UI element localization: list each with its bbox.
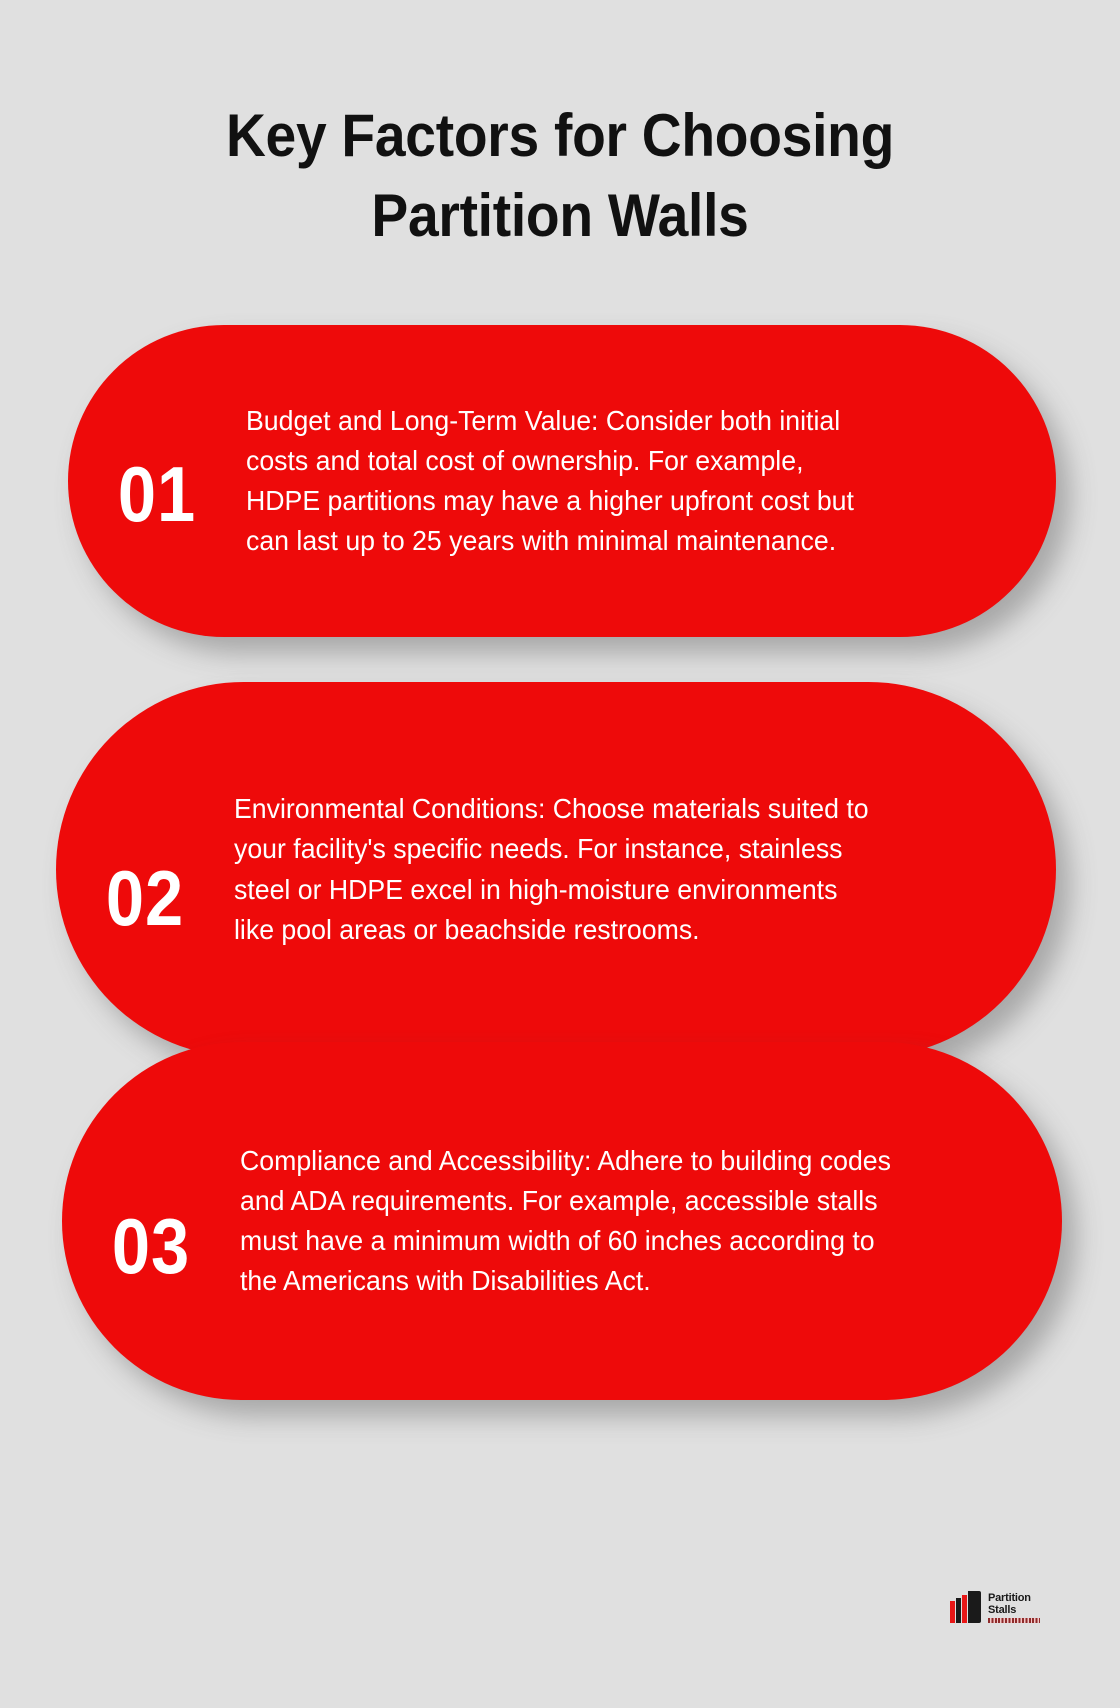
logo-name-line-1: Partition [988,1593,1042,1604]
factor-text-2: Environmental Conditions: Choose materia… [234,789,899,950]
logo-wordmark: Partition Stalls [988,1592,1042,1623]
factor-card-2: 02 Environmental Conditions: Choose mate… [56,682,1056,1057]
logo-bar-dark-1 [956,1598,961,1623]
partition-bars-icon [950,1591,983,1623]
page-title: Key Factors for Choosing Partition Walls [128,96,993,256]
logo-bar-red-2 [962,1595,967,1623]
factor-number-2: 02 [67,803,224,937]
logo-tagline [988,1618,1040,1623]
factor-text-3: Compliance and Accessibility: Adhere to … [240,1141,944,1302]
factor-card-3: 03 Compliance and Accessibility: Adhere … [62,1042,1062,1400]
title-block: Key Factors for Choosing Partition Walls [90,96,1030,256]
logo-bar-dark-2 [968,1591,981,1623]
logo-bar-red-1 [950,1601,955,1623]
infographic-poster: Key Factors for Choosing Partition Walls… [0,0,1120,1708]
brand-logo: Partition Stalls [950,1586,1042,1628]
factor-number-1: 01 [79,429,236,533]
factor-text-1: Budget and Long-Term Value: Consider bot… [246,401,892,562]
factor-card-1: 01 Budget and Long-Term Value: Consider … [68,325,1056,637]
factor-number-3: 03 [73,1157,230,1285]
logo-name-line-2: Stalls [988,1605,1042,1616]
